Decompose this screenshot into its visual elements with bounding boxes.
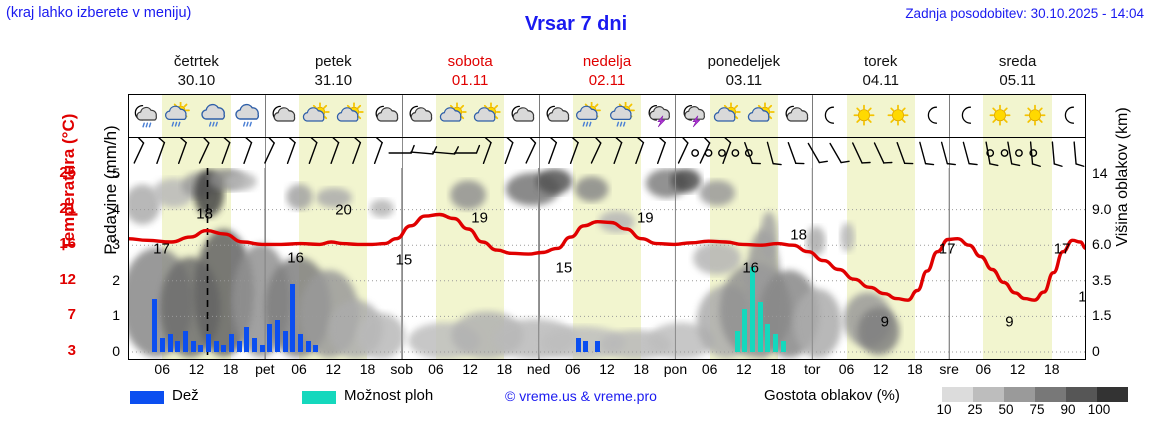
wind-barb xyxy=(897,143,913,164)
cloud-density-tick: 10 xyxy=(936,402,951,417)
day-separator xyxy=(402,96,403,136)
cloud-density-swatch xyxy=(1035,387,1066,402)
weather-icon-sun-cloud xyxy=(710,94,744,137)
day-separator xyxy=(949,96,950,136)
temperature-value-label: 9 xyxy=(881,313,889,330)
cloud-height-tick: 6.0 xyxy=(1092,236,1132,252)
time-tick-label: 12 xyxy=(189,361,205,377)
wind-barb xyxy=(658,138,666,163)
copyright-link[interactable]: © vreme.us & vreme.pro xyxy=(505,388,657,404)
temperature-value-label: 17 xyxy=(939,240,956,257)
day-separator xyxy=(812,96,813,136)
time-tick-label: 18 xyxy=(497,361,513,377)
temperature-tick: 3 xyxy=(42,342,76,359)
day-header-četrtek: četrtek30.10 xyxy=(128,52,265,92)
time-tick-label: 12 xyxy=(599,361,615,377)
cloud-density-tick: 90 xyxy=(1060,402,1075,417)
temperature-value-label: 16 xyxy=(287,250,304,267)
time-tick-label: 18 xyxy=(223,361,239,377)
wind-barb xyxy=(179,138,187,163)
weather-icon-moon-cloud xyxy=(504,94,538,137)
time-tick-label: 12 xyxy=(873,361,889,377)
day-name: sreda xyxy=(949,52,1086,71)
temperature-value-label: 17 xyxy=(1054,240,1071,257)
weather-icon-sun xyxy=(881,94,915,137)
time-tick-label: 12 xyxy=(1010,361,1026,377)
wind-barb xyxy=(505,138,513,163)
weather-icon-sun-cloud xyxy=(744,94,778,137)
wind-barb xyxy=(526,138,535,163)
wind-barb xyxy=(1008,142,1020,165)
day-date: 01.11 xyxy=(402,71,539,90)
temperature-value-label: 20 xyxy=(335,202,352,219)
calm-wind-marker xyxy=(732,150,738,156)
wind-barb xyxy=(1052,142,1062,166)
wind-barb xyxy=(134,138,143,163)
time-tick-label: 06 xyxy=(565,361,581,377)
cloud-height-tick: 0 xyxy=(1092,343,1132,359)
time-tick-label: ned xyxy=(527,361,550,377)
precipitation-axis-title: Padavine (mm/h) xyxy=(101,95,121,285)
temperature-value-label: 16 xyxy=(742,259,759,276)
wind-barb xyxy=(614,138,622,163)
time-tick-label: 18 xyxy=(1044,361,1060,377)
time-tick-label: sre xyxy=(939,361,958,377)
temperature-value-label: 17 xyxy=(153,240,170,257)
wind-barb xyxy=(157,138,165,163)
day-name: četrtek xyxy=(128,52,265,71)
day-date: 30.10 xyxy=(128,71,265,90)
day-name: torek xyxy=(812,52,949,71)
temperature-tick: 21 xyxy=(42,200,76,217)
last-updated-label: Zadnja posodobitev: 30.10.2025 - 14:04 xyxy=(905,6,1144,21)
day-header-row: četrtek30.10petek31.10sobota01.11nedelja… xyxy=(128,52,1086,92)
wind-barb xyxy=(830,143,849,162)
precipitation-tick: 4 xyxy=(92,201,120,217)
temperature-tick: 7 xyxy=(42,306,76,323)
cloud-density-swatch xyxy=(1004,387,1035,402)
wind-barb xyxy=(767,142,781,164)
wind-barb xyxy=(1031,142,1041,166)
day-date: 31.10 xyxy=(265,71,402,90)
cloud-density-legend-label: Gostota oblakov (%) xyxy=(764,387,900,404)
wind-barb xyxy=(309,138,317,163)
weather-icon-sun xyxy=(1018,94,1052,137)
time-tick-label: pon xyxy=(664,361,687,377)
day-name: ponedeljek xyxy=(675,52,812,71)
wind-barb xyxy=(808,143,827,162)
day-header-nedelja: nedelja02.11 xyxy=(539,52,676,92)
wind-barb xyxy=(411,147,436,154)
temperature-value-label: 18 xyxy=(196,206,213,223)
time-tick-label: 18 xyxy=(360,361,376,377)
wind-barb xyxy=(288,138,296,163)
weather-icon-moon-cloud-rain xyxy=(128,94,162,137)
day-separator xyxy=(675,96,676,136)
weather-icon-sun xyxy=(847,94,881,137)
weather-icon-sun-cloud xyxy=(470,94,504,137)
cloud-height-tick: 14 xyxy=(1092,165,1132,181)
weather-icon-moon-cloud xyxy=(539,94,573,137)
time-axis-labels: 061218pet061218sob061218ned061218pon0612… xyxy=(128,361,1086,381)
cloud-density-scale xyxy=(942,387,1128,402)
precipitation-tick: 5 xyxy=(92,165,120,181)
time-tick-label: tor xyxy=(804,361,820,377)
day-date: 02.11 xyxy=(539,71,676,90)
wind-barb xyxy=(986,142,998,165)
time-tick-label: 06 xyxy=(839,361,855,377)
temperature-tick: 25 xyxy=(42,164,76,181)
day-name: petek xyxy=(265,52,402,71)
time-tick-label: 06 xyxy=(291,361,307,377)
weather-icon-sun-cloud-rain xyxy=(607,94,641,137)
temperature-value-label: 19 xyxy=(637,209,654,226)
wind-barb xyxy=(875,143,892,163)
temperature-value-label: 11 xyxy=(1078,288,1086,305)
time-tick-label: sob xyxy=(390,361,413,377)
day-date: 03.11 xyxy=(675,71,812,90)
wind-barb xyxy=(636,138,644,163)
weather-icon-moon-cloud xyxy=(402,94,436,137)
weather-icon-moon xyxy=(1052,94,1086,137)
temperature-value-label: 15 xyxy=(396,252,413,269)
time-tick-label: pet xyxy=(255,361,274,377)
temperature-value-label: 18 xyxy=(790,227,807,244)
wind-barb xyxy=(353,138,361,163)
wind-barb xyxy=(244,138,252,163)
cloud-density-tick: 25 xyxy=(967,402,982,417)
weather-icon-moon xyxy=(812,94,846,137)
wind-barb xyxy=(942,142,956,164)
wind-barb xyxy=(1074,142,1084,166)
weather-icon-sun-cloud-rain xyxy=(573,94,607,137)
wind-barb xyxy=(920,142,934,164)
day-name: nedelja xyxy=(539,52,676,71)
wind-barb xyxy=(591,138,600,163)
day-separator xyxy=(539,96,540,136)
wind-barb xyxy=(788,143,804,164)
rain-legend-swatch xyxy=(130,391,164,404)
temperature-tick: 12 xyxy=(42,271,76,288)
day-header-torek: torek04.11 xyxy=(812,52,949,92)
showers-legend-label: Možnost ploh xyxy=(344,387,433,404)
day-header-petek: petek31.10 xyxy=(265,52,402,92)
time-tick-label: 06 xyxy=(154,361,170,377)
weather-icon-sun-cloud xyxy=(333,94,367,137)
wind-barb xyxy=(265,138,274,163)
rain-legend-label: Dež xyxy=(172,387,199,404)
time-tick-label: 18 xyxy=(907,361,923,377)
temperature-value-label: 15 xyxy=(556,259,573,276)
cloud-density-tick: 75 xyxy=(1029,402,1044,417)
wind-barb xyxy=(853,143,870,163)
wind-barb xyxy=(200,138,209,163)
weather-icon-sun-cloud-rain xyxy=(162,94,196,137)
cloud-density-swatch xyxy=(1066,387,1097,402)
day-name: sobota xyxy=(402,52,539,71)
wind-barb-row xyxy=(128,138,1086,168)
weather-icon-moon-cloud xyxy=(778,94,812,137)
cloud-height-tick: 9.0 xyxy=(1092,201,1132,217)
showers-legend-swatch xyxy=(302,391,336,404)
wind-barb xyxy=(375,138,383,163)
time-tick-label: 06 xyxy=(428,361,444,377)
wind-barb xyxy=(963,142,977,164)
calm-wind-marker xyxy=(1001,150,1007,156)
cloud-density-swatch xyxy=(1097,387,1128,402)
wind-barb xyxy=(222,138,230,163)
day-header-sobota: sobota01.11 xyxy=(402,52,539,92)
cloud-density-tick: 50 xyxy=(998,402,1013,417)
meteogram-plot: 1718162015191519161891791711 xyxy=(128,168,1086,360)
time-tick-label: 12 xyxy=(325,361,341,377)
temperature-tick: 16 xyxy=(42,235,76,252)
day-date: 05.11 xyxy=(949,71,1086,90)
temperature-value-label: 19 xyxy=(471,209,488,226)
weather-icon-moon-cloud xyxy=(265,94,299,137)
time-tick-label: 06 xyxy=(702,361,718,377)
precipitation-tick: 0 xyxy=(92,343,120,359)
day-header-ponedeljek: ponedeljek03.11 xyxy=(675,52,812,92)
precipitation-tick: 1 xyxy=(92,307,120,323)
temperature-value-label: 9 xyxy=(1005,313,1013,330)
weather-icon-sun xyxy=(983,94,1017,137)
weather-icon-cloud-rain xyxy=(196,94,230,137)
weather-icon-row xyxy=(128,94,1086,138)
wind-barb xyxy=(549,138,557,163)
weather-icon-moon xyxy=(915,94,949,137)
time-tick-label: 18 xyxy=(633,361,649,377)
time-tick-label: 06 xyxy=(976,361,992,377)
chart-legend: Dež Možnost ploh © vreme.us & vreme.pro … xyxy=(130,386,1150,416)
time-tick-label: 12 xyxy=(462,361,478,377)
cloud-density-tick: 100 xyxy=(1088,402,1111,417)
weather-icon-moon-cloud-storm xyxy=(675,94,709,137)
weather-icon-moon-cloud-storm xyxy=(641,94,675,137)
wind-barb xyxy=(483,138,491,163)
weather-icon-sun-cloud xyxy=(299,94,333,137)
weather-icon-moon xyxy=(949,94,983,137)
cloud-density-swatch xyxy=(973,387,1004,402)
weather-icon-cloud-rain xyxy=(231,94,265,137)
time-tick-label: 18 xyxy=(770,361,786,377)
precipitation-tick: 3 xyxy=(92,236,120,252)
precipitation-tick: 2 xyxy=(92,272,120,288)
calm-wind-marker xyxy=(705,150,711,156)
day-separator xyxy=(265,96,266,136)
wind-barb xyxy=(331,138,339,163)
cloud-density-swatch xyxy=(942,387,973,402)
calm-wind-marker xyxy=(1016,150,1022,156)
wind-barbs-svg xyxy=(128,138,1086,168)
calm-wind-marker xyxy=(692,150,698,156)
day-header-sreda: sreda05.11 xyxy=(949,52,1086,92)
calm-wind-marker xyxy=(719,150,725,156)
weather-icon-moon-cloud xyxy=(368,94,402,137)
day-date: 04.11 xyxy=(812,71,949,90)
time-tick-label: 12 xyxy=(736,361,752,377)
wind-barb xyxy=(571,138,579,163)
cloud-height-tick: 3.5 xyxy=(1092,272,1132,288)
weather-icon-sun-cloud xyxy=(436,94,470,137)
temperature-curve xyxy=(128,168,1086,360)
wind-barb xyxy=(679,138,688,163)
cloud-height-tick: 1.5 xyxy=(1092,307,1132,323)
